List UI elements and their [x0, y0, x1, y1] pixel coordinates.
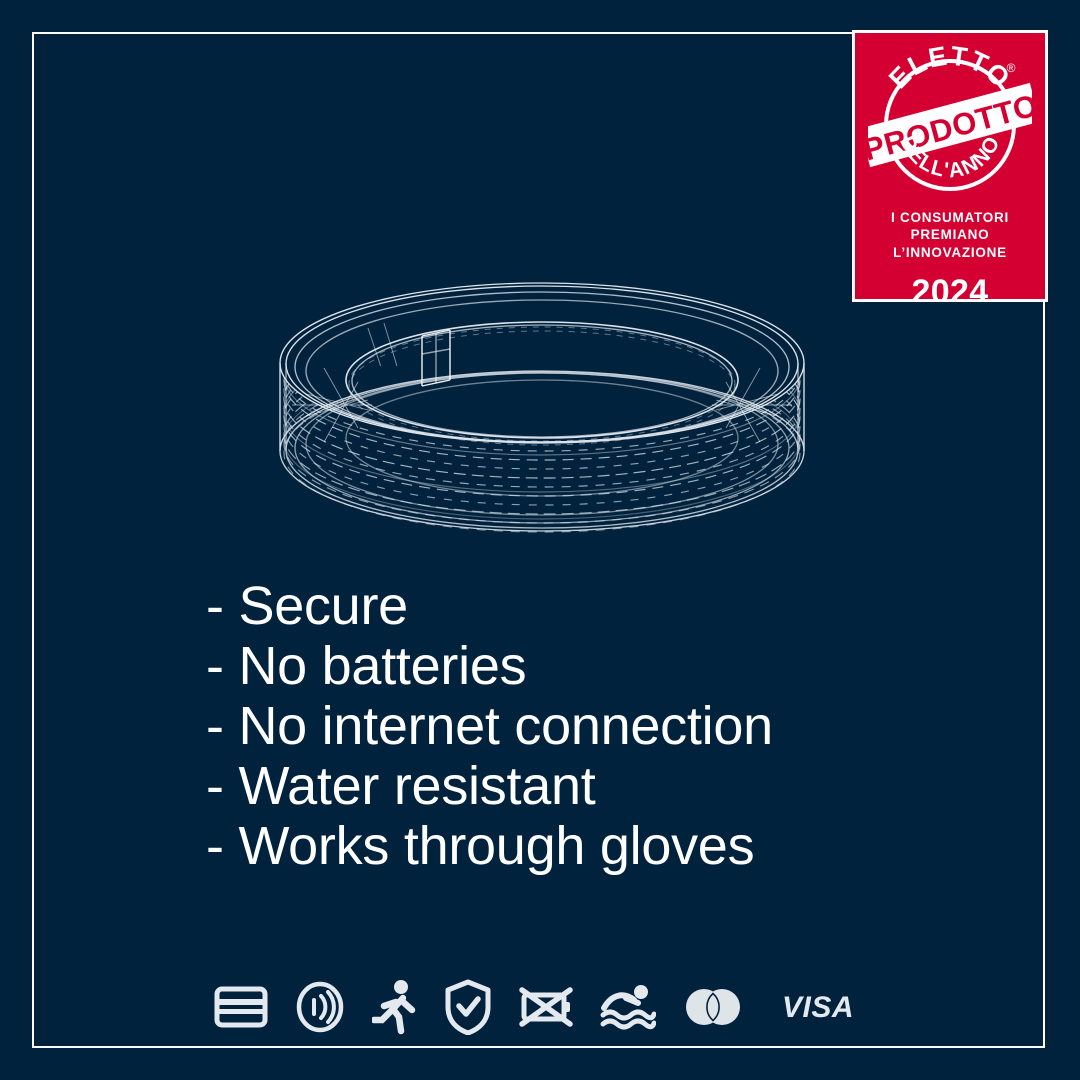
promo-poster: ELETTO PRODOTTO DELL'ANNO ® I CONSUMATOR…: [0, 0, 1080, 1080]
no-battery-icon: [518, 979, 574, 1035]
smart-ring-wireframe-svg: [272, 268, 812, 548]
smart-ring-wireframe: [272, 268, 812, 548]
visa-wordmark-text: VISA: [782, 991, 854, 1024]
feature-item-3: - No internet connection: [206, 696, 966, 756]
feature-item-1: - Secure: [206, 576, 966, 636]
award-stamp-graphic: ELETTO PRODOTTO DELL'ANNO ®: [868, 39, 1032, 203]
swimmer-water-icon: [600, 979, 656, 1035]
registered-mark-icon: ®: [1007, 61, 1016, 75]
award-subtitle-line-1: I CONSUMATORI: [855, 209, 1045, 226]
svg-text:ELETTO: ELETTO: [883, 41, 1017, 95]
credit-card-icon: [214, 979, 268, 1035]
shield-check-icon: [444, 979, 492, 1035]
award-year: 2024: [855, 273, 1045, 302]
visa-logo-icon: VISA: [770, 979, 866, 1035]
award-subtitle-line-2: PREMIANO L’INNOVAZIONE: [855, 226, 1045, 261]
mastercard-logo-icon: [682, 979, 744, 1035]
payment-feature-icon-strip: VISA: [0, 975, 1080, 1039]
feature-item-4: - Water resistant: [206, 756, 966, 816]
feature-list: - Secure - No batteries - No internet co…: [206, 576, 966, 876]
feature-item-2: - No batteries: [206, 636, 966, 696]
running-person-icon: [372, 979, 418, 1035]
feature-item-5: - Works through gloves: [206, 816, 966, 876]
stamp-top-arc-text: ELETTO: [883, 41, 1017, 95]
award-badge: ELETTO PRODOTTO DELL'ANNO ® I CONSUMATOR…: [852, 30, 1048, 302]
contactless-pay-icon: [294, 979, 346, 1035]
award-badge-caption: I CONSUMATORI PREMIANO L’INNOVAZIONE 202…: [855, 209, 1045, 302]
